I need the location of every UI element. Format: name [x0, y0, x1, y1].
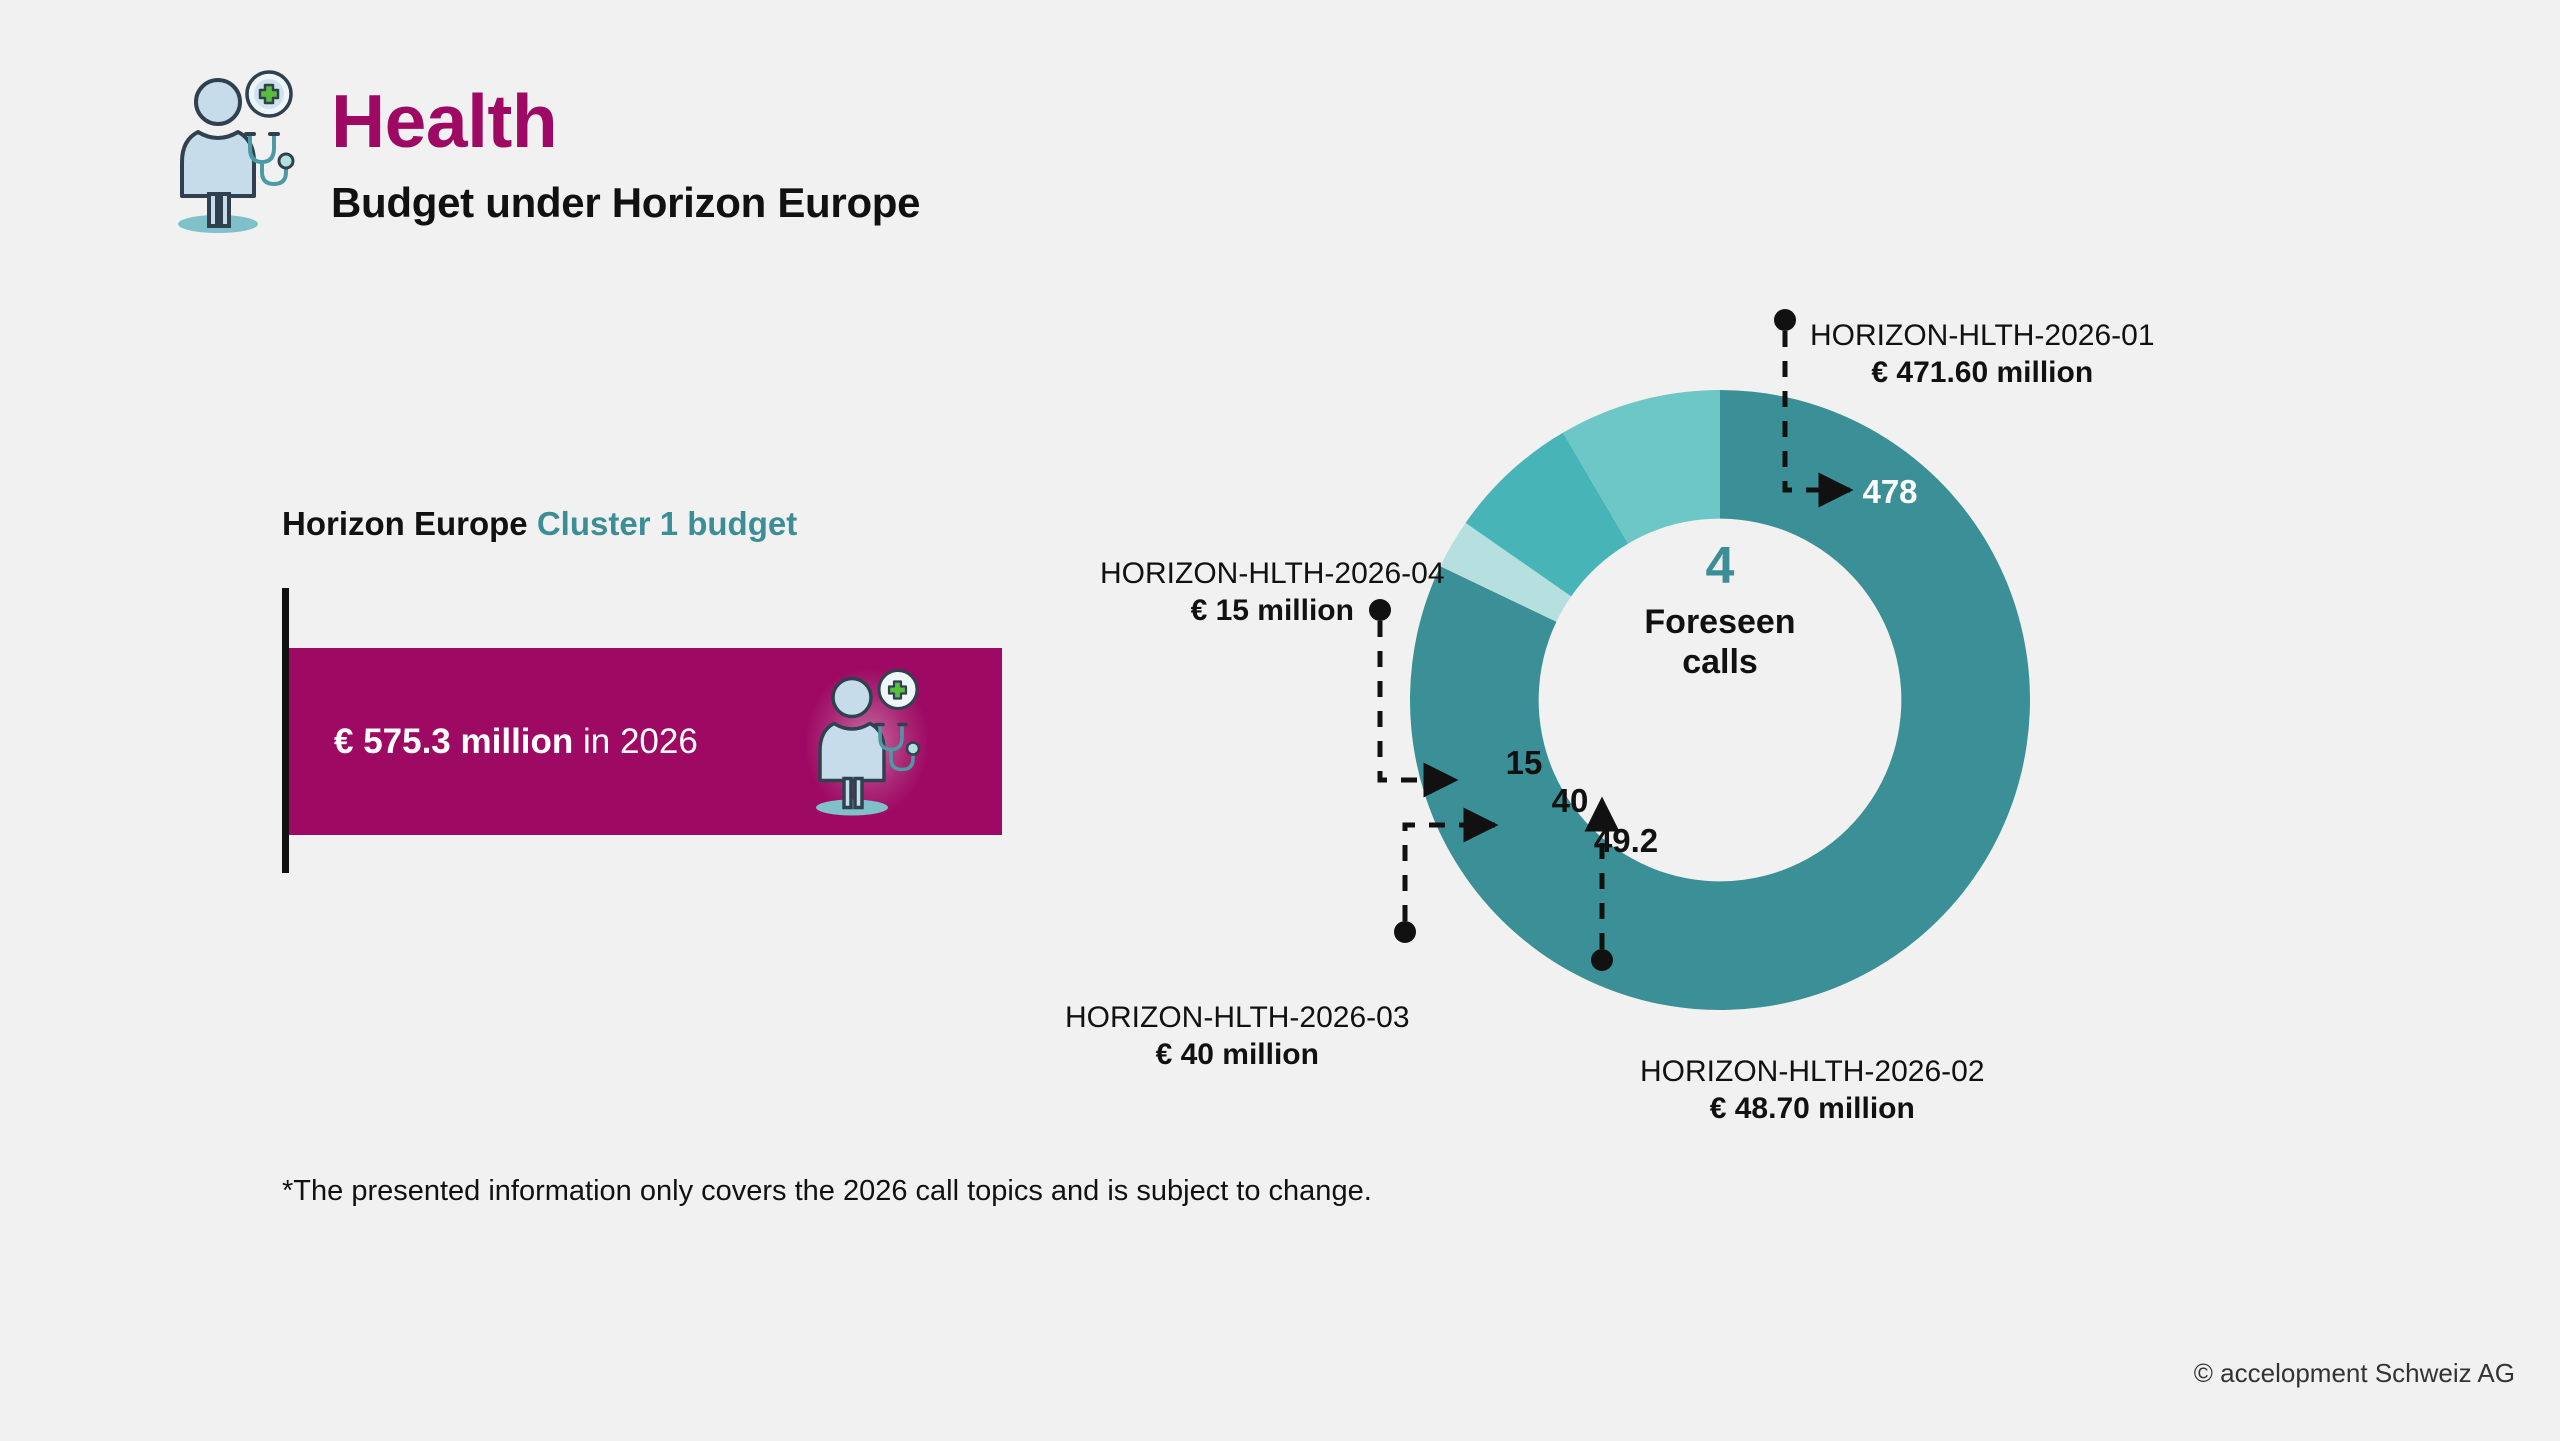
footnote: *The presented information only covers t…: [282, 1175, 1372, 1208]
bar-heading: Horizon Europe Cluster 1 budget: [282, 505, 1012, 543]
bar-value-label: € 575.3 million in 2026: [334, 722, 698, 762]
budget-bar: € 575.3 million in 2026: [289, 648, 1002, 835]
bar-heading-black: Horizon Europe: [282, 505, 537, 542]
callout-label-2026-01: HORIZON-HLTH-2026-01 € 471.60 million: [1810, 318, 2155, 391]
donut-center-line2: calls: [1560, 642, 1880, 682]
callout-amount: € 15 million: [1100, 593, 1445, 630]
health-person-stethoscope-icon: [807, 664, 927, 819]
bar-axis-line: [282, 588, 289, 873]
callout-amount: € 48.70 million: [1640, 1091, 1985, 1128]
bar-value-year: in 2026: [573, 722, 698, 761]
infographic-canvas: Health Budget under Horizon Europe Horiz…: [0, 0, 2560, 1441]
donut-center-line1: Foreseen: [1560, 602, 1880, 642]
callout-label-2026-02: HORIZON-HLTH-2026-02 € 48.70 million: [1640, 1054, 1985, 1127]
bar-value-amount: € 575.3 million: [334, 722, 573, 761]
callout-label-2026-03: HORIZON-HLTH-2026-03 € 40 million: [1065, 1000, 1410, 1073]
health-person-stethoscope-icon: [168, 66, 303, 236]
header-text: Health Budget under Horizon Europe: [331, 60, 920, 227]
callout-code: HORIZON-HLTH-2026-02: [1640, 1054, 1985, 1091]
callout-code: HORIZON-HLTH-2026-04: [1100, 556, 1445, 593]
budget-bar-block: Horizon Europe Cluster 1 budget € 575.3 …: [282, 505, 1012, 873]
donut-slice-value: 15: [1506, 744, 1543, 781]
callout-code: HORIZON-HLTH-2026-03: [1065, 1000, 1410, 1037]
donut-slice-value: 478: [1862, 473, 1917, 510]
callout-label-2026-04: HORIZON-HLTH-2026-04 € 15 million: [1100, 556, 1445, 629]
page-title: Health: [331, 60, 920, 159]
header: Health Budget under Horizon Europe: [168, 60, 920, 236]
donut-center-number: 4: [1560, 540, 1880, 592]
bar-heading-teal: Cluster 1 budget: [537, 505, 797, 542]
callout-amount: € 471.60 million: [1810, 355, 2155, 392]
page-subtitle: Budget under Horizon Europe: [331, 159, 920, 227]
callout-code: HORIZON-HLTH-2026-01: [1810, 318, 2155, 355]
copyright-notice: © accelopment Schweiz AG: [2194, 1358, 2515, 1389]
donut-slices: [1410, 390, 2030, 1010]
callout-amount: € 40 million: [1065, 1037, 1410, 1074]
donut-slice-value: 40: [1552, 782, 1589, 819]
donut-center-annotation: 4 Foreseen calls: [1560, 540, 1880, 682]
bar-chart: € 575.3 million in 2026: [282, 588, 1012, 873]
